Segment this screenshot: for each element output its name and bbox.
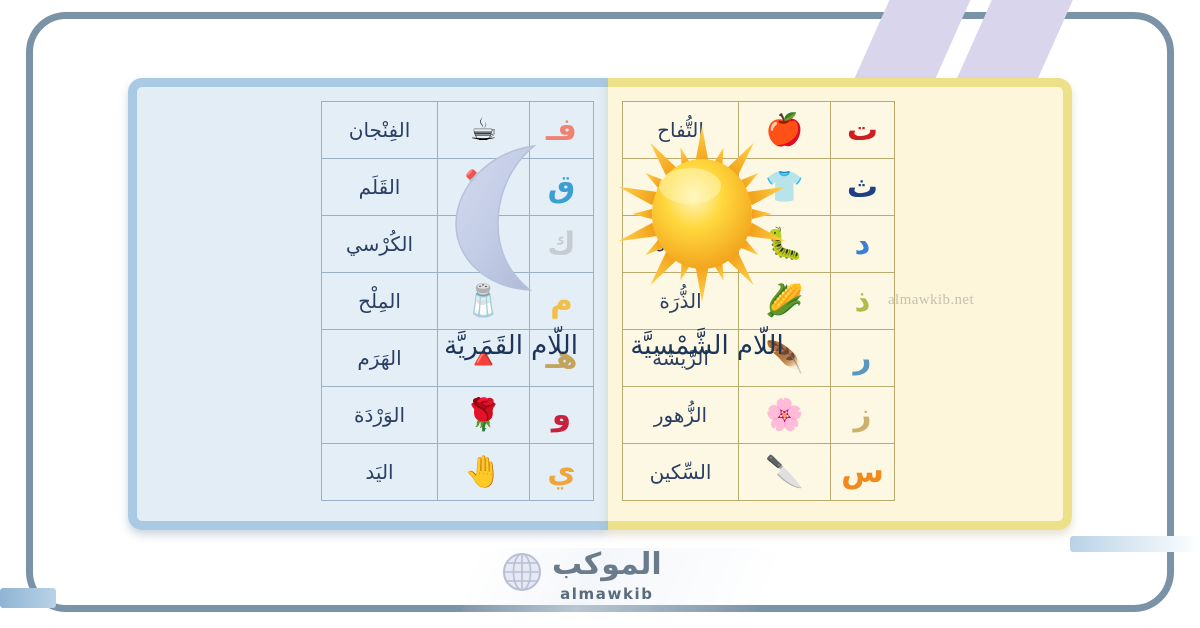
lunar-word-cell: اليَد bbox=[322, 444, 438, 501]
red-rose-icon-glyph: 🌹 bbox=[438, 400, 529, 431]
arabic-word: اليَد bbox=[365, 460, 393, 484]
solar-letter-cell: د bbox=[831, 216, 895, 273]
arabic-word: القَلَم bbox=[359, 175, 401, 199]
table-row: و🌹الوَرْدَة bbox=[322, 387, 594, 444]
decorative-accent-right-bar bbox=[1070, 536, 1200, 552]
solar-letter-cell: ز bbox=[831, 387, 895, 444]
brand-text-wrap: الموكب almawkib bbox=[552, 550, 662, 603]
decorative-accent-bottom-left bbox=[0, 588, 56, 608]
lunar-panel-title: اللّام القَمَريَّة bbox=[418, 328, 604, 366]
crescent-moon-icon bbox=[448, 136, 560, 296]
arabic-word: المِلْح bbox=[358, 289, 401, 313]
sun-ray bbox=[747, 180, 787, 205]
hand-icon-glyph: 🤚 bbox=[438, 457, 529, 488]
arabic-word: الزُّهور bbox=[654, 403, 707, 427]
arabic-letter: ز bbox=[854, 397, 872, 433]
arabic-word: الكُرْسي bbox=[346, 232, 413, 256]
sun-icon bbox=[616, 124, 788, 304]
sun-ray bbox=[752, 209, 772, 219]
solar-panel-title: اللّام الشَّمْسيَّة bbox=[614, 328, 800, 366]
solar-letter-cell: ر bbox=[831, 330, 895, 387]
lunar-word-cell: الفِنْجان bbox=[322, 102, 438, 159]
sun-ray bbox=[616, 180, 656, 205]
solar-word-cell: السِّكين bbox=[623, 444, 739, 501]
flowers-icon: 🌸 bbox=[739, 387, 831, 444]
sun-ray bbox=[695, 126, 709, 164]
lunar-letter-cell: و bbox=[530, 387, 594, 444]
arabic-word: السِّكين bbox=[650, 460, 712, 484]
table-row: س🔪السِّكين bbox=[623, 444, 895, 501]
lunar-word-cell: المِلْح bbox=[322, 273, 438, 330]
solar-word-cell: الزُّهور bbox=[623, 387, 739, 444]
arabic-letter: د bbox=[855, 226, 871, 262]
flowers-icon-glyph: 🌸 bbox=[739, 400, 830, 431]
arabic-letter: و bbox=[552, 397, 571, 433]
sun-ray bbox=[747, 223, 787, 248]
brand-name-english: almawkib bbox=[560, 585, 654, 603]
brand-name-arabic: الموكب bbox=[552, 550, 662, 580]
brand-logo: الموكب almawkib bbox=[502, 550, 702, 612]
solar-letter-cell: س bbox=[831, 444, 895, 501]
lunar-word-cell: الوَرْدَة bbox=[322, 387, 438, 444]
knife-icon: 🔪 bbox=[739, 444, 831, 501]
solar-letter-cell: ذ bbox=[831, 273, 895, 330]
arabic-letter: ث bbox=[847, 169, 878, 205]
table-row: ي🤚اليَد bbox=[322, 444, 594, 501]
arabic-letter: ذ bbox=[855, 283, 871, 319]
arabic-letter: ي bbox=[547, 454, 575, 490]
table-row: ز🌸الزُّهور bbox=[623, 387, 895, 444]
knife-icon-glyph: 🔪 bbox=[739, 457, 830, 488]
hand-icon: 🤚 bbox=[438, 444, 530, 501]
sun-ray bbox=[616, 223, 656, 248]
arabic-word: الفِنْجان bbox=[349, 118, 411, 142]
lunar-word-cell: الكُرْسي bbox=[322, 216, 438, 273]
sun-ray bbox=[695, 264, 709, 302]
sun-ray bbox=[632, 209, 652, 219]
lunar-word-cell: القَلَم bbox=[322, 159, 438, 216]
red-rose-icon: 🌹 bbox=[438, 387, 530, 444]
arabic-letter: ر bbox=[854, 340, 872, 376]
arabic-letter: ت bbox=[847, 112, 878, 148]
globe-icon bbox=[502, 552, 542, 592]
arabic-word: الهَرَم bbox=[357, 346, 401, 370]
solar-letter-cell: ت bbox=[831, 102, 895, 159]
lunar-letter-cell: ي bbox=[530, 444, 594, 501]
arabic-word: الوَرْدَة bbox=[354, 403, 405, 427]
solar-letter-cell: ث bbox=[831, 159, 895, 216]
arabic-letter: س bbox=[841, 454, 884, 490]
